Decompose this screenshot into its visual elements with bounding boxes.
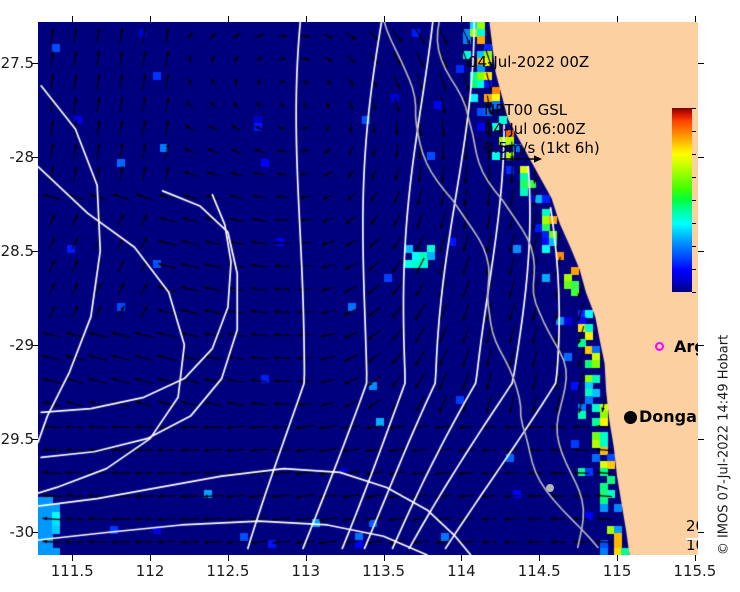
xtick-top: [150, 16, 151, 22]
station-marker-icon: [546, 484, 554, 492]
xtick-top: [306, 16, 307, 22]
ytick-label: -28.5: [0, 242, 34, 260]
colorbar-tick: [692, 292, 696, 293]
bathy-key-line-200: [686, 538, 698, 540]
ytick-right: [698, 157, 704, 158]
xtick-top: [384, 16, 385, 22]
date-stamp: 04-Jul-2022 00Z: [468, 53, 589, 71]
xtick: [695, 555, 696, 561]
xtick-label: 115.5: [673, 562, 716, 580]
xtick: [306, 555, 307, 561]
colorbar-tick: [692, 200, 696, 201]
xtick: [461, 555, 462, 561]
gsl-info-block: NRT00 GSL 04-Jul 06:00Z 0.5m/s (1kt 6h): [484, 101, 600, 158]
ytick-label: -30: [10, 523, 35, 541]
gsl-product-label: NRT00 GSL: [484, 101, 600, 120]
xtick-label: 113: [291, 562, 320, 580]
colorbar-tick: [692, 131, 696, 132]
xtick-label: 111.5: [51, 562, 94, 580]
colorbar-tick: [692, 154, 696, 155]
xtick-top: [695, 16, 696, 22]
argo-label: Argo: [674, 337, 698, 356]
xtick-top: [228, 16, 229, 22]
argo-marker-icon: [655, 342, 664, 351]
ytick-label: -28: [10, 148, 35, 166]
xtick-top: [539, 16, 540, 22]
xtick: [384, 555, 385, 561]
colorbar-tick: [692, 177, 696, 178]
ytick-right: [698, 532, 704, 533]
xtick-label: 112.5: [206, 562, 249, 580]
colorbar-gradient: [672, 108, 692, 292]
dongara-label: Dongara: [639, 407, 698, 426]
ytick-label: -29: [10, 336, 35, 354]
xtick-label: 115: [603, 562, 632, 580]
colorbar-tick: [692, 246, 696, 247]
ytick-right: [698, 439, 704, 440]
xtick-label: 114: [447, 562, 476, 580]
colorbar-tick: [692, 223, 696, 224]
xtick-label: 112: [136, 562, 165, 580]
xtick-top: [461, 16, 462, 22]
ytick-right: [698, 251, 704, 252]
velocity-scale-arrow-icon: [498, 152, 544, 166]
xtick-top: [72, 16, 73, 22]
gsl-time-label: 04-Jul 06:00Z: [484, 120, 600, 139]
xtick-label: 114.5: [518, 562, 561, 580]
colorbar-tick: [692, 269, 696, 270]
xtick-label: 113.5: [362, 562, 405, 580]
ytick-label: -27.5: [0, 54, 34, 72]
dongara-marker-icon: [624, 411, 637, 424]
bathymetry-key: 200m 1000m: [686, 517, 698, 555]
credit-text: © IMOS 07-Jul-2022 14:49 Hobart: [712, 330, 736, 560]
xtick: [228, 555, 229, 561]
xtick: [539, 555, 540, 561]
ytick-right: [698, 63, 704, 64]
ytick-right: [698, 345, 704, 346]
credit-label: © IMOS 07-Jul-2022 14:49 Hobart: [717, 335, 732, 555]
bathy-label-200: 200m: [686, 517, 698, 536]
ytick-label: -29.5: [0, 430, 34, 448]
map-plot-area[interactable]: 04-Jul-2022 00Z NRT00 GSL 04-Jul 06:00Z …: [38, 22, 698, 555]
colorbar-tick: [692, 108, 696, 109]
colorbar: 00.250.50.7511.251.51.752: [672, 108, 692, 292]
figure-root: 04-Jul-2022 00Z NRT00 GSL 04-Jul 06:00Z …: [0, 0, 740, 592]
xtick: [72, 555, 73, 561]
xtick-top: [617, 16, 618, 22]
xtick: [150, 555, 151, 561]
xtick: [617, 555, 618, 561]
